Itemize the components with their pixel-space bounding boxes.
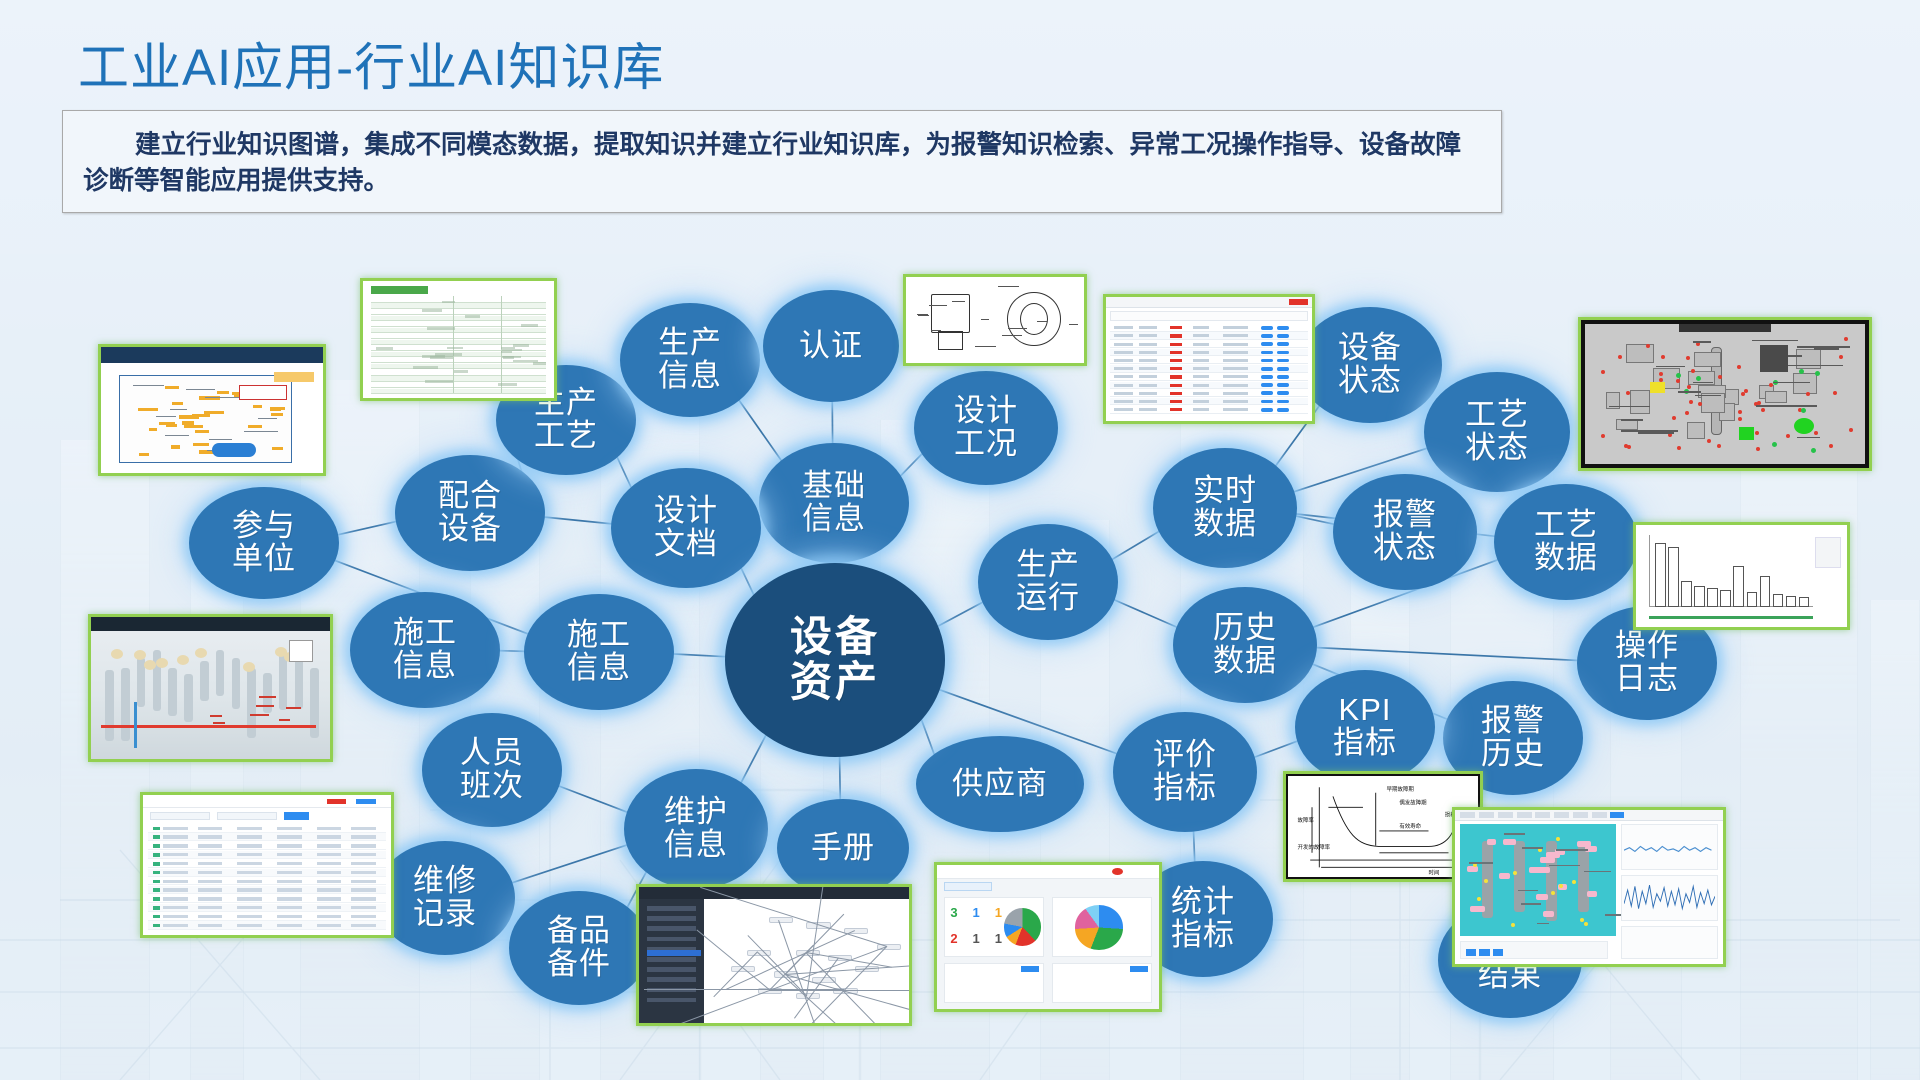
graph-node-shengchan-xinxi[interactable]: 生产 信息 [620, 303, 760, 417]
svg-text:早期故障期: 早期故障期 [1387, 785, 1415, 793]
graph-node-shishi-shuju[interactable]: 实时 数据 [1153, 448, 1297, 568]
slide-root: 工业AI应用-行业AI知识库 建立行业知识图谱，集成不同模态数据，提取知识并建立… [0, 0, 1920, 1080]
svg-text:有效寿命: 有效寿命 [1399, 822, 1421, 830]
thumb-scada-app[interactable] [1578, 317, 1872, 471]
graph-edge [498, 651, 527, 652]
graph-node-lishi-shuju[interactable]: 历史 数据 [1173, 587, 1317, 703]
svg-text:开发的故障率: 开发的故障率 [1297, 843, 1330, 851]
thumbnail-content-pies: 311211 [937, 865, 1159, 1009]
thumb-trend-chart[interactable] [1633, 522, 1850, 630]
graph-edge [738, 399, 782, 462]
graph-node-gongyi-shuju[interactable]: 工艺 数据 [1494, 484, 1638, 600]
graph-node-peihe-shebei[interactable]: 配合 设备 [395, 455, 545, 571]
graph-node-gongyingshang[interactable]: 供应商 [916, 736, 1084, 832]
svg-text:偶发故障期: 偶发故障期 [1399, 799, 1427, 807]
graph-node-beipin-beijian[interactable]: 备品 备件 [509, 891, 649, 1005]
graph-edge [840, 754, 841, 801]
graph-edge [740, 733, 767, 784]
graph-node-baojing-zhuangtai[interactable]: 报警 状态 [1333, 474, 1477, 590]
thumbnail-content-plant3d [91, 617, 330, 759]
thumb-plant-3d[interactable] [88, 614, 333, 762]
thumbnail-content-drawing [906, 277, 1084, 363]
graph-edge [543, 517, 614, 524]
graph-edge [1193, 830, 1194, 863]
graph-node-renzheng[interactable]: 认证 [763, 290, 899, 402]
graph-edge [336, 521, 398, 535]
thumb-smart-pid[interactable] [98, 344, 326, 476]
graph-node-weixiu-jilu[interactable]: 维修 记录 [375, 841, 515, 955]
graph-edge [1253, 740, 1299, 757]
thumb-dcs-monitor[interactable] [1452, 807, 1726, 967]
graph-edge [920, 717, 935, 757]
graph-edge [1111, 530, 1161, 560]
thumb-pie-dashboard[interactable]: 311211 [934, 862, 1162, 1012]
graph-node-shouce[interactable]: 手册 [777, 799, 909, 897]
graph-node-shebei-zhuangtai[interactable]: 设备 状态 [1298, 307, 1442, 423]
thumbnail-content-graphtool [639, 887, 909, 1023]
thumb-device-status-table[interactable] [1103, 294, 1315, 424]
graph-edge [1315, 648, 1579, 661]
svg-text:时间: 时间 [1428, 869, 1439, 877]
graph-edge [935, 601, 984, 627]
graph-edge [672, 654, 729, 657]
graph-node-shengchan-yunxing[interactable]: 生产 运行 [978, 524, 1118, 640]
graph-node-weihu-xinxi[interactable]: 维护 信息 [624, 769, 768, 889]
thumb-opcua-tool[interactable] [636, 884, 912, 1026]
thumbnail-content-bars [1636, 525, 1847, 627]
thumb-drawing[interactable] [903, 274, 1087, 366]
thumb-datasheet[interactable] [360, 278, 557, 401]
graph-node-shigong-xinxi-2[interactable]: 施工 信息 [524, 594, 674, 710]
graph-edge [510, 844, 628, 883]
graph-node-shigong-xinxi-1[interactable]: 施工 信息 [350, 592, 500, 708]
thumbnail-content-curve: 早期故障期 偶发故障期 损耗故障期 有效寿命 故障率 开发的故障率 时间 [1286, 774, 1480, 879]
graph-node-renyuan-banci[interactable]: 人员 班次 [422, 713, 562, 827]
thumbnail-content-pid [101, 347, 323, 473]
graph-edge [1113, 599, 1179, 628]
thumbnail-content-scada [1581, 320, 1869, 468]
graph-edge [616, 456, 631, 489]
graph-node-jichu-xinxi[interactable]: 基础 信息 [759, 443, 909, 563]
svg-text:故障率: 故障率 [1297, 816, 1314, 824]
graph-node-canzhu-danwei[interactable]: 参与 单位 [189, 487, 339, 599]
graph-edge [740, 567, 755, 598]
thumbnail-content-dcs [1455, 810, 1723, 964]
graph-node-pingjia-zhibiao[interactable]: 评价 指标 [1113, 712, 1257, 832]
graph-node-gongyi-zhuangtai[interactable]: 工艺 状态 [1424, 372, 1570, 492]
graph-node-hub[interactable]: 设备 资产 [725, 563, 945, 757]
graph-node-sheji-gongkuang[interactable]: 设计 工况 [914, 371, 1058, 485]
graph-edge [899, 452, 923, 477]
thumbnail-content-list [143, 795, 391, 935]
graph-edge [557, 785, 629, 812]
graph-node-kpi-zhibiao[interactable]: KPI 指标 [1295, 670, 1435, 784]
graph-node-sheji-wendang[interactable]: 设计 文档 [611, 468, 761, 588]
thumb-record-list[interactable] [140, 792, 394, 938]
thumbnail-content-table [1106, 297, 1312, 421]
thumbnail-content-sheet [363, 281, 554, 398]
